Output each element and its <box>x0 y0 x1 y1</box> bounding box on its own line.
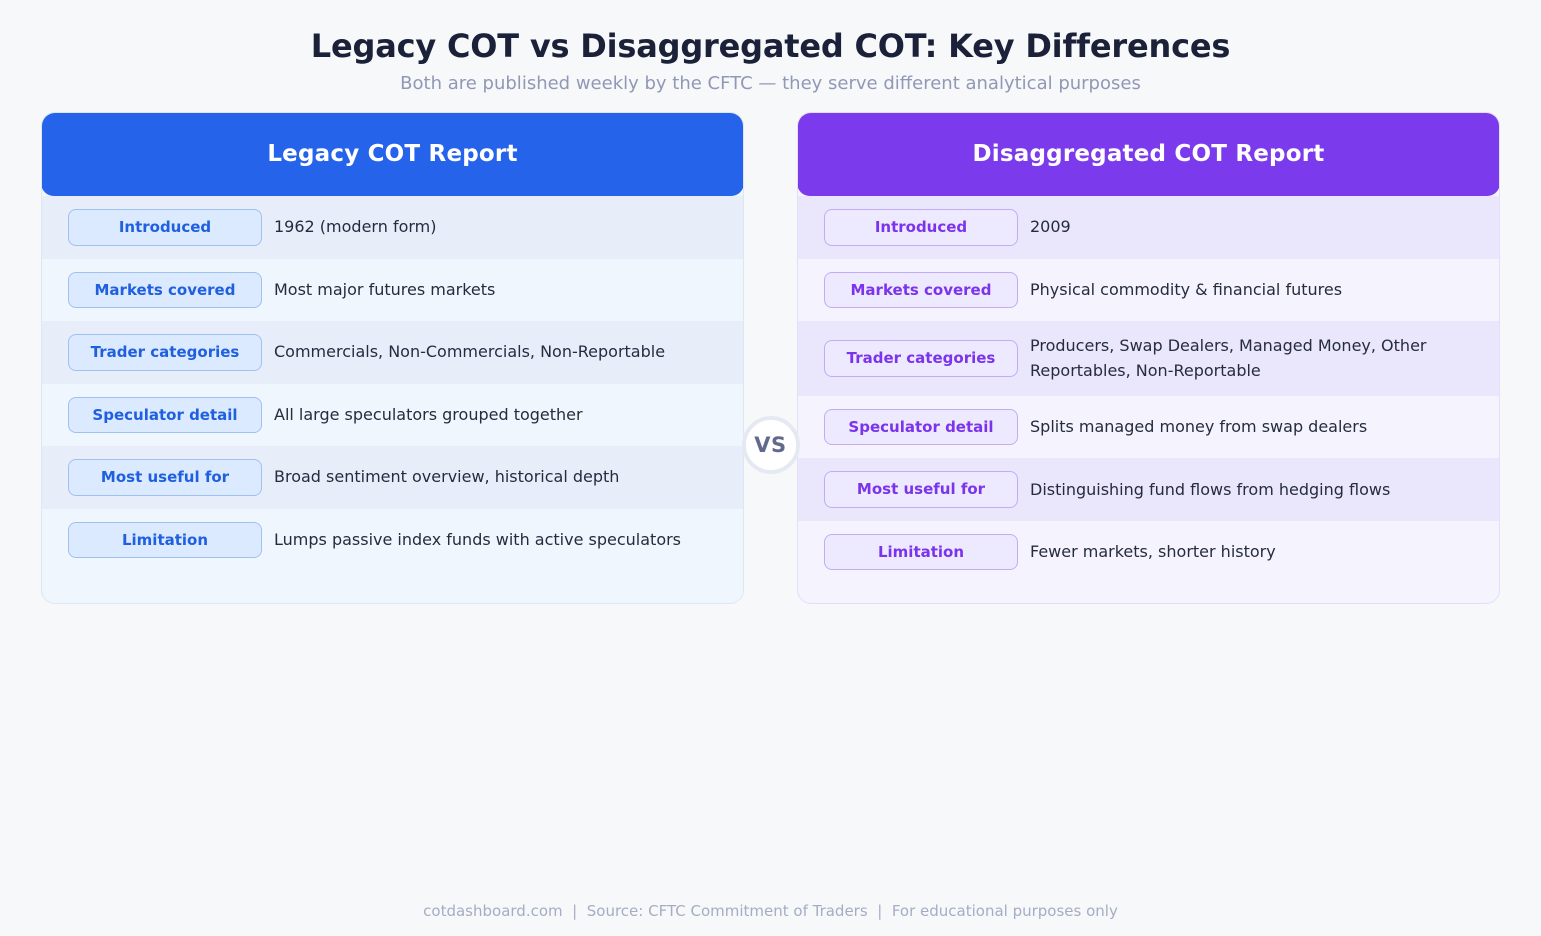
row-label: Markets covered <box>824 272 1018 309</box>
row-label: Markets covered <box>68 272 262 309</box>
card-legacy-cot: Legacy COT Report Introduced 1962 (moder… <box>41 112 744 604</box>
row-label: Introduced <box>824 209 1018 246</box>
row-value: 2009 <box>1018 215 1473 239</box>
table-row: Speculator detail All large speculators … <box>42 384 743 447</box>
row-value: Physical commodity & financial futures <box>1018 278 1473 302</box>
row-value: Distinguishing fund flows from hedging f… <box>1018 478 1473 502</box>
page-header: Legacy COT vs Disaggregated COT: Key Dif… <box>0 0 1541 94</box>
table-row: Speculator detail Splits managed money f… <box>798 396 1499 459</box>
row-value: Commercials, Non-Commercials, Non-Report… <box>262 340 717 364</box>
row-value: Producers, Swap Dealers, Managed Money, … <box>1018 334 1473 383</box>
row-label: Introduced <box>68 209 262 246</box>
footer-site: cotdashboard.com <box>423 902 562 920</box>
row-value: Lumps passive index funds with active sp… <box>262 528 717 552</box>
vs-badge-label: VS <box>754 433 786 457</box>
table-row: Markets covered Physical commodity & fin… <box>798 259 1499 322</box>
table-row: Introduced 1962 (modern form) <box>42 196 743 259</box>
table-row: Limitation Fewer markets, shorter histor… <box>798 521 1499 584</box>
page-footer: cotdashboard.com | Source: CFTC Commitme… <box>0 902 1541 920</box>
row-value: Most major futures markets <box>262 278 717 302</box>
row-value: All large speculators grouped together <box>262 403 717 427</box>
comparison-container: Legacy COT Report Introduced 1962 (moder… <box>0 94 1541 604</box>
row-label: Limitation <box>68 522 262 559</box>
infographic-page: Legacy COT vs Disaggregated COT: Key Dif… <box>0 0 1541 936</box>
row-value: Broad sentiment overview, historical dep… <box>262 465 717 489</box>
row-value: Splits managed money from swap dealers <box>1018 415 1473 439</box>
footer-disclaimer: For educational purposes only <box>892 902 1118 920</box>
card-rows-disaggregated: Introduced 2009 Markets covered Physical… <box>798 196 1499 583</box>
page-title: Legacy COT vs Disaggregated COT: Key Dif… <box>0 28 1541 66</box>
row-label: Speculator detail <box>68 397 262 434</box>
row-label: Most useful for <box>68 459 262 496</box>
vs-badge: VS <box>742 416 800 474</box>
card-rows-legacy: Introduced 1962 (modern form) Markets co… <box>42 196 743 571</box>
table-row: Trader categories Producers, Swap Dealer… <box>798 321 1499 396</box>
card-title-legacy: Legacy COT Report <box>267 141 517 167</box>
card-disaggregated-cot: Disaggregated COT Report Introduced 2009… <box>797 112 1500 604</box>
card-title-disaggregated: Disaggregated COT Report <box>973 141 1325 167</box>
table-row: Introduced 2009 <box>798 196 1499 259</box>
table-row: Trader categories Commercials, Non-Comme… <box>42 321 743 384</box>
footer-source: Source: CFTC Commitment of Traders <box>587 902 868 920</box>
table-row: Most useful for Distinguishing fund flow… <box>798 458 1499 521</box>
row-label: Limitation <box>824 534 1018 571</box>
row-value: 1962 (modern form) <box>262 215 717 239</box>
row-label: Trader categories <box>68 334 262 371</box>
row-label: Most useful for <box>824 471 1018 508</box>
row-value: Fewer markets, shorter history <box>1018 540 1473 564</box>
card-header-disaggregated: Disaggregated COT Report <box>797 112 1500 196</box>
table-row: Most useful for Broad sentiment overview… <box>42 446 743 509</box>
table-row: Markets covered Most major futures marke… <box>42 259 743 322</box>
footer-separator-2: | <box>868 902 892 920</box>
card-header-legacy: Legacy COT Report <box>41 112 744 196</box>
row-label: Speculator detail <box>824 409 1018 446</box>
row-label: Trader categories <box>824 340 1018 377</box>
footer-separator-1: | <box>563 902 587 920</box>
table-row: Limitation Lumps passive index funds wit… <box>42 509 743 572</box>
page-subtitle: Both are published weekly by the CFTC — … <box>0 73 1541 95</box>
